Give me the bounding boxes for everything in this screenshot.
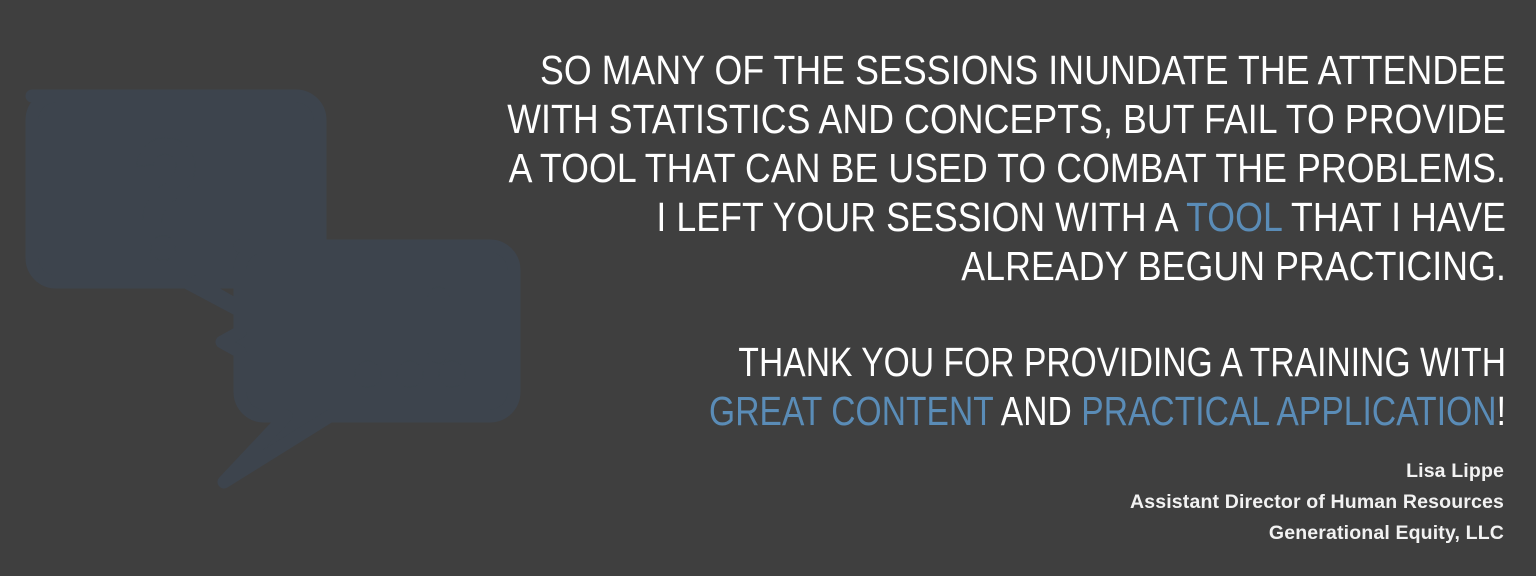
attribution-title: Assistant Director of Human Resources [1130,487,1504,518]
quote-highlight-great-content: GREAT CONTENT [709,388,993,434]
quote-text-segment: I LEFT YOUR SESSION WITH A [656,194,1186,240]
quote-line: SO MANY OF THE SESSIONS INUNDATE THE ATT… [300,46,1506,95]
quote-line: THANK YOU FOR PROVIDING A TRAINING WITH [438,338,1506,387]
quote-line: A TOOL THAT CAN BE USED TO COMBAT THE PR… [300,144,1506,193]
quote-text-segment: WITH STATISTICS AND CONCEPTS, BUT FAIL T… [507,96,1506,142]
quote-line: I LEFT YOUR SESSION WITH A TOOL THAT I H… [300,193,1506,242]
quote-text-segment: ! [1497,388,1506,434]
quote-highlight-practical-application: PRACTICAL APPLICATION [1081,388,1496,434]
quote-text-segment: A TOOL THAT CAN BE USED TO COMBAT THE PR… [509,145,1506,191]
quote-text-segment: THANK YOU FOR PROVIDING A TRAINING WITH [738,339,1506,385]
quote-highlight-tool: TOOL [1186,194,1282,240]
quote-line: WITH STATISTICS AND CONCEPTS, BUT FAIL T… [300,95,1506,144]
quote-text-segment: THAT I HAVE [1282,194,1506,240]
quote-paragraph-2: THANK YOU FOR PROVIDING A TRAINING WITH … [200,338,1506,436]
quote-text-segment: SO MANY OF THE SESSIONS INUNDATE THE ATT… [540,47,1506,93]
quote-line: ALREADY BEGUN PRACTICING. [300,242,1506,291]
testimonial-slide: SO MANY OF THE SESSIONS INUNDATE THE ATT… [0,0,1536,576]
attribution-organization: Generational Equity, LLC [1130,518,1504,549]
attribution-name: Lisa Lippe [1130,456,1504,487]
quote-text-segment: ALREADY BEGUN PRACTICING. [961,243,1506,289]
quote-line: GREAT CONTENT AND PRACTICAL APPLICATION! [438,387,1506,436]
slide-content: SO MANY OF THE SESSIONS INUNDATE THE ATT… [0,0,1536,576]
quote-text-segment: AND [993,388,1081,434]
quote-paragraph-1: SO MANY OF THE SESSIONS INUNDATE THE ATT… [120,46,1506,291]
attribution-block: Lisa Lippe Assistant Director of Human R… [1130,456,1504,549]
